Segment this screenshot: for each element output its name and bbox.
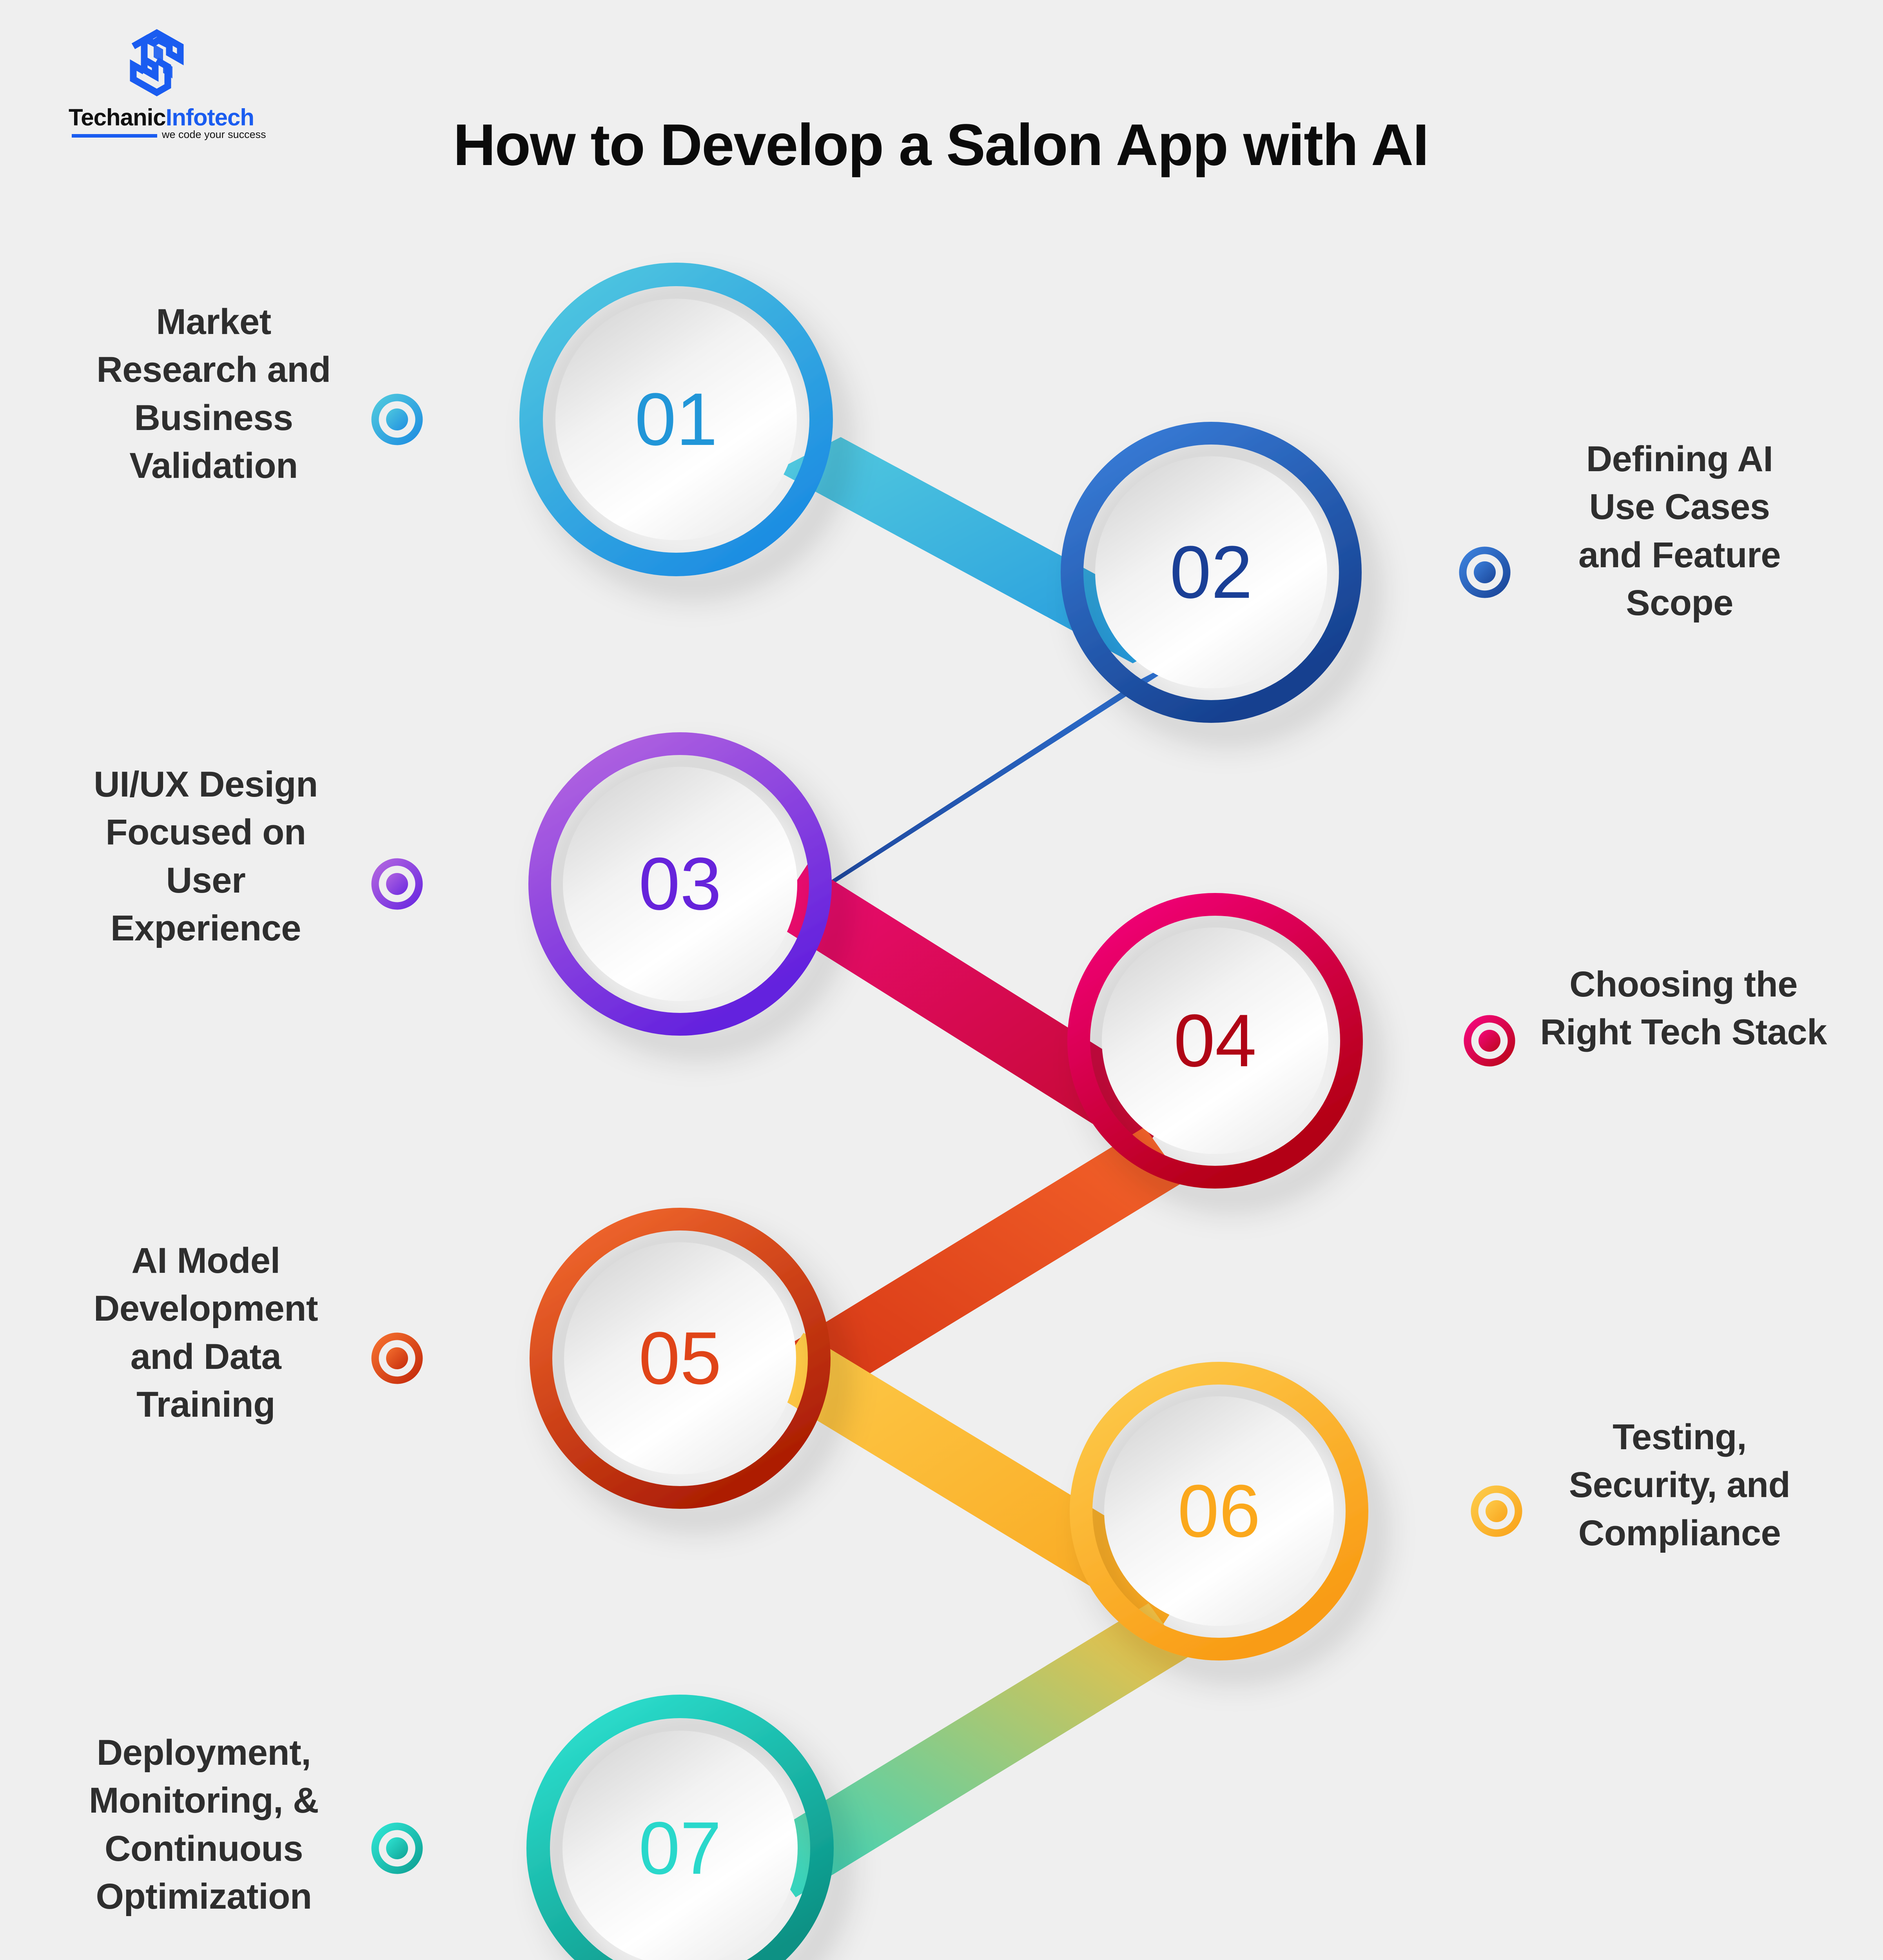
step-label-04-line-1: Choosing the	[1501, 960, 1866, 1008]
step-node-06[interactable]: 06	[1081, 1373, 1357, 1649]
step-number-02: 02	[1170, 531, 1252, 614]
step-label-01-line-2: Research and	[51, 346, 376, 394]
step-label-07-line-4: Optimization	[31, 1873, 376, 1920]
step-label-07-line-2: Monitoring, &	[31, 1777, 376, 1824]
step-node-02[interactable]: 02	[1072, 433, 1350, 711]
step-number-06: 06	[1177, 1470, 1260, 1553]
step-number-07: 07	[639, 1807, 721, 1890]
step-label-06-line-3: Compliance	[1517, 1509, 1842, 1557]
step-node-04[interactable]: 04	[1079, 904, 1351, 1177]
step-label-01-line-3: Business	[51, 394, 376, 442]
step-label-06-line-1: Testing,	[1517, 1413, 1842, 1461]
step-label-07-line-1: Deployment,	[31, 1729, 376, 1777]
step-number-03: 03	[639, 842, 721, 926]
step-label-02-line-2: Use Cases	[1517, 483, 1842, 531]
step-label-03-line-1: UI/UX Design	[43, 760, 368, 808]
step-label-04: Choosing the Right Tech Stack	[1501, 960, 1866, 1056]
step-node-05[interactable]: 05	[541, 1219, 819, 1497]
step-label-01-line-1: Market	[51, 298, 376, 346]
step-label-05-line-2: Development	[43, 1285, 368, 1332]
step-number-05: 05	[639, 1317, 721, 1400]
step-label-05-line-3: and Data	[43, 1333, 368, 1381]
step-label-02: Defining AI Use Cases and Feature Scope	[1517, 435, 1842, 627]
step-label-05: AI Model Development and Data Training	[43, 1237, 368, 1428]
step-label-02-line-4: Scope	[1517, 579, 1842, 627]
step-label-07-line-3: Continuous	[31, 1825, 376, 1873]
step-label-02-line-3: and Feature	[1517, 531, 1842, 579]
step-label-02-line-1: Defining AI	[1517, 435, 1842, 483]
step-label-03-line-4: Experience	[43, 904, 368, 952]
step-label-04-line-2: Right Tech Stack	[1501, 1008, 1866, 1056]
step-number-04: 04	[1174, 999, 1256, 1082]
step-label-01: Market Research and Business Validation	[51, 298, 376, 490]
step-label-05-line-1: AI Model	[43, 1237, 368, 1285]
step-node-07[interactable]: 07	[538, 1706, 822, 1960]
step-label-03: UI/UX Design Focused on User Experience	[43, 760, 368, 952]
step-node-03[interactable]: 03	[540, 744, 820, 1024]
step-label-06: Testing, Security, and Compliance	[1517, 1413, 1842, 1557]
step-number-01: 01	[635, 378, 717, 461]
step-label-06-line-2: Security, and	[1517, 1461, 1842, 1509]
step-label-03-line-2: Focused on	[43, 808, 368, 856]
step-label-01-line-4: Validation	[51, 442, 376, 490]
step-label-03-line-3: User	[43, 857, 368, 904]
step-label-05-line-4: Training	[43, 1381, 368, 1428]
step-node-01[interactable]: 01	[531, 274, 821, 564]
step-label-07: Deployment, Monitoring, & Continuous Opt…	[31, 1729, 376, 1920]
